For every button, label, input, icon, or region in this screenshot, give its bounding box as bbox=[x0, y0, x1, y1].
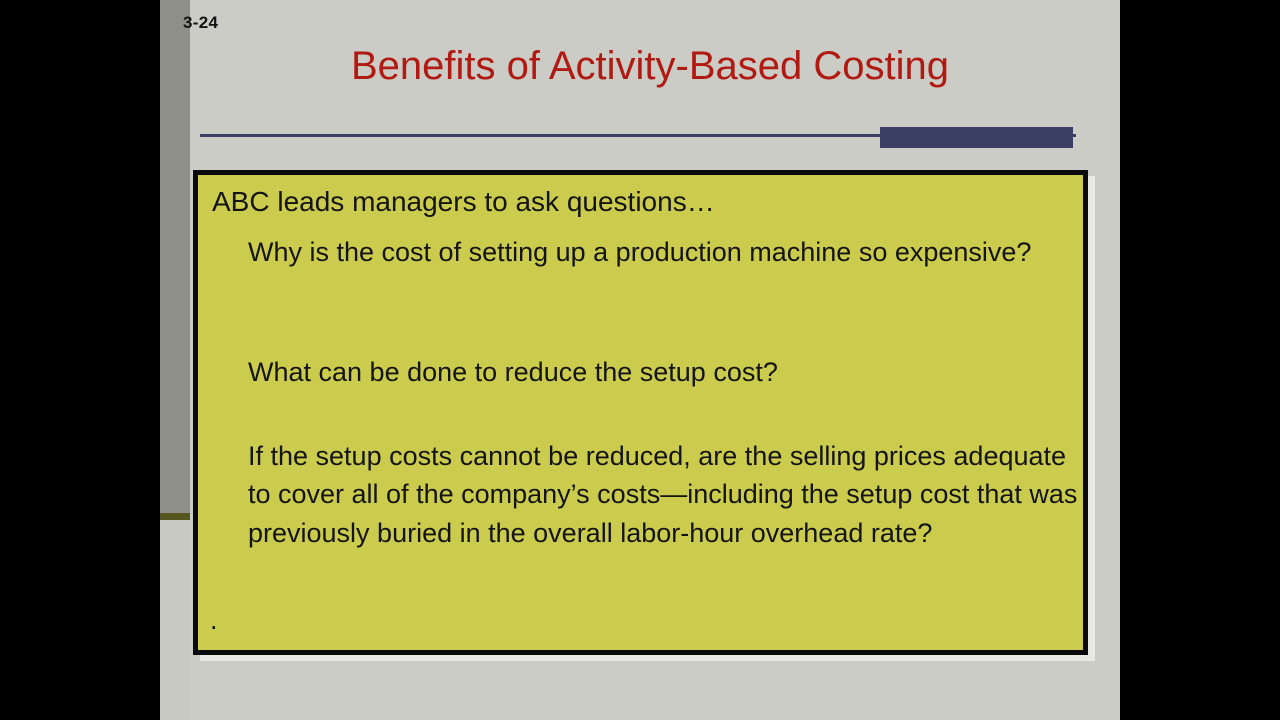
screen-letterbox: 3-24 Benefits of Activity-Based Costing … bbox=[0, 0, 1280, 720]
content-box: ABC leads managers to ask questions… Why… bbox=[193, 170, 1088, 655]
slide-number: 3-24 bbox=[183, 13, 218, 33]
title-divider-block bbox=[880, 127, 1073, 148]
trailing-period-mark: . bbox=[210, 605, 218, 636]
question-item-2: What can be done to reduce the setup cos… bbox=[248, 353, 1058, 391]
content-lead-line: ABC leads managers to ask questions… bbox=[212, 186, 715, 218]
left-accent-band bbox=[160, 0, 190, 513]
page-title: Benefits of Activity-Based Costing bbox=[200, 44, 1100, 89]
left-accent-band-lower bbox=[160, 520, 190, 720]
question-item-3: If the setup costs cannot be reduced, ar… bbox=[248, 437, 1086, 552]
question-item-1: Why is the cost of setting up a producti… bbox=[248, 233, 1058, 271]
left-accent-band-cap bbox=[160, 513, 190, 520]
presentation-slide: 3-24 Benefits of Activity-Based Costing … bbox=[160, 0, 1120, 720]
